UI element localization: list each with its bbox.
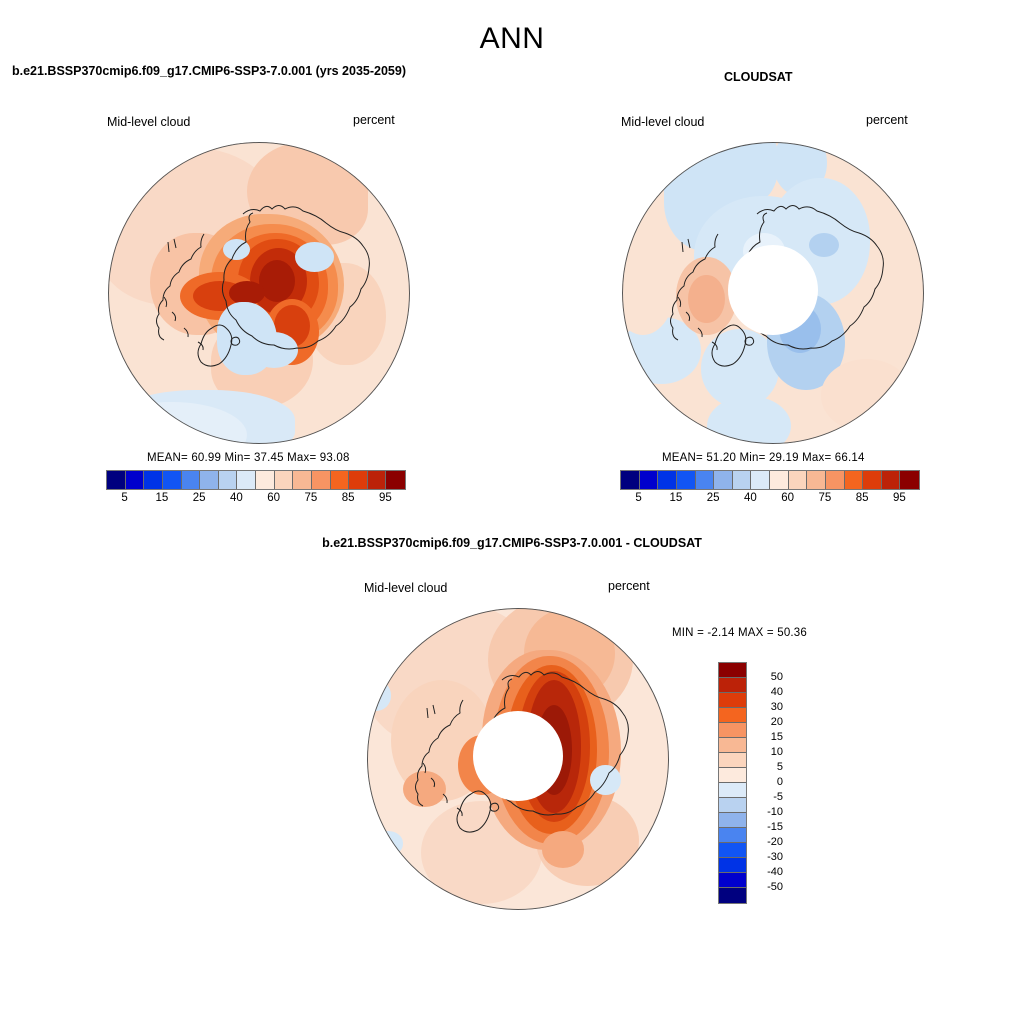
colorbar-swatch bbox=[200, 471, 219, 489]
model-units-label: percent bbox=[353, 113, 395, 127]
colorbar-tick-label: 50 bbox=[749, 671, 783, 683]
colorbar-tick-label: 0 bbox=[749, 776, 783, 788]
colorbar-tick-label: 15 bbox=[155, 492, 168, 504]
obs-stats-label: MEAN= 51.20 Min= 29.19 Max= 66.14 bbox=[662, 452, 865, 464]
colorbar-swatch bbox=[640, 471, 659, 489]
colorbar-tick-label: 10 bbox=[749, 746, 783, 758]
colorbar-tick-label: 75 bbox=[818, 492, 831, 504]
colorbar-tick-label: -50 bbox=[749, 881, 783, 893]
diff-panel-title: b.e21.BSSP370cmip6.f09_g17.CMIP6-SSP3-7.… bbox=[0, 536, 1024, 550]
colorbar-swatch bbox=[126, 471, 145, 489]
colorbar-swatch bbox=[719, 858, 746, 873]
colorbar-tick-label: 40 bbox=[749, 686, 783, 698]
colorbar-tick-label: 60 bbox=[267, 492, 280, 504]
colorbar-swatch bbox=[719, 708, 746, 723]
colorbar-swatch bbox=[719, 678, 746, 693]
colorbar-swatch bbox=[107, 471, 126, 489]
model-stats-label: MEAN= 60.99 Min= 37.45 Max= 93.08 bbox=[147, 452, 350, 464]
colorbar-swatch bbox=[719, 738, 746, 753]
obs-variable-label: Mid-level cloud bbox=[621, 115, 704, 129]
colorbar-swatch bbox=[386, 471, 405, 489]
colorbar-tick-label: 5 bbox=[121, 492, 127, 504]
colorbar-swatch bbox=[719, 828, 746, 843]
obs-units-label: percent bbox=[866, 113, 908, 127]
model-colorbar[interactable] bbox=[106, 470, 406, 490]
colorbar-swatch bbox=[368, 471, 387, 489]
colorbar-tick-label: 30 bbox=[749, 701, 783, 713]
colorbar-swatch bbox=[275, 471, 294, 489]
colorbar-swatch bbox=[312, 471, 331, 489]
diff-colorbar[interactable] bbox=[718, 662, 747, 904]
diff-units-label: percent bbox=[608, 579, 650, 593]
colorbar-tick-label: 60 bbox=[781, 492, 794, 504]
colorbar-tick-label: 25 bbox=[193, 492, 206, 504]
colorbar-swatch bbox=[714, 471, 733, 489]
colorbar-swatch bbox=[733, 471, 752, 489]
model-colorbar-ticks: 515254060758595 bbox=[106, 492, 404, 508]
colorbar-swatch bbox=[719, 723, 746, 738]
obs-colorbar-ticks: 515254060758595 bbox=[620, 492, 918, 508]
colorbar-tick-label: 95 bbox=[379, 492, 392, 504]
colorbar-tick-label: 40 bbox=[744, 492, 757, 504]
colorbar-tick-label: -30 bbox=[749, 851, 783, 863]
obs-colorbar[interactable] bbox=[620, 470, 920, 490]
colorbar-swatch bbox=[219, 471, 238, 489]
colorbar-swatch bbox=[621, 471, 640, 489]
colorbar-swatch bbox=[719, 693, 746, 708]
colorbar-tick-label: -5 bbox=[749, 791, 783, 803]
colorbar-tick-label: -20 bbox=[749, 836, 783, 848]
colorbar-tick-label: 40 bbox=[230, 492, 243, 504]
colorbar-swatch bbox=[163, 471, 182, 489]
colorbar-swatch bbox=[677, 471, 696, 489]
colorbar-tick-label: 20 bbox=[749, 716, 783, 728]
colorbar-tick-label: 15 bbox=[669, 492, 682, 504]
colorbar-swatch bbox=[719, 798, 746, 813]
colorbar-tick-label: 25 bbox=[707, 492, 720, 504]
colorbar-swatch bbox=[719, 813, 746, 828]
diff-stats-label: MIN = -2.14 MAX = 50.36 bbox=[672, 627, 807, 639]
colorbar-swatch bbox=[331, 471, 350, 489]
colorbar-swatch bbox=[349, 471, 368, 489]
colorbar-swatch bbox=[882, 471, 901, 489]
colorbar-swatch bbox=[719, 843, 746, 858]
colorbar-swatch bbox=[770, 471, 789, 489]
colorbar-swatch bbox=[789, 471, 808, 489]
colorbar-swatch bbox=[256, 471, 275, 489]
colorbar-swatch bbox=[293, 471, 312, 489]
obs-map[interactable] bbox=[622, 142, 924, 444]
model-map[interactable] bbox=[108, 142, 410, 444]
colorbar-tick-label: -10 bbox=[749, 806, 783, 818]
colorbar-tick-label: 85 bbox=[856, 492, 869, 504]
colorbar-swatch bbox=[144, 471, 163, 489]
diff-colorbar-ticks: 50403020151050-5-10-15-20-30-40-50 bbox=[749, 662, 789, 902]
colorbar-swatch bbox=[863, 471, 882, 489]
obs-panel-title: CLOUDSAT bbox=[724, 70, 793, 84]
colorbar-swatch bbox=[719, 888, 746, 903]
colorbar-swatch bbox=[845, 471, 864, 489]
model-map-ring bbox=[108, 142, 410, 444]
colorbar-swatch bbox=[719, 768, 746, 783]
colorbar-tick-label: 95 bbox=[893, 492, 906, 504]
colorbar-swatch bbox=[719, 753, 746, 768]
diff-map-ring bbox=[367, 608, 669, 910]
colorbar-swatch bbox=[182, 471, 201, 489]
colorbar-tick-label: 85 bbox=[342, 492, 355, 504]
colorbar-swatch bbox=[696, 471, 715, 489]
colorbar-tick-label: 5 bbox=[635, 492, 641, 504]
colorbar-tick-label: 75 bbox=[304, 492, 317, 504]
colorbar-swatch bbox=[658, 471, 677, 489]
colorbar-swatch bbox=[719, 783, 746, 798]
colorbar-swatch bbox=[826, 471, 845, 489]
diff-map[interactable] bbox=[367, 608, 669, 910]
colorbar-swatch bbox=[751, 471, 770, 489]
colorbar-tick-label: -15 bbox=[749, 821, 783, 833]
model-variable-label: Mid-level cloud bbox=[107, 115, 190, 129]
model-panel-title: b.e21.BSSP370cmip6.f09_g17.CMIP6-SSP3-7.… bbox=[12, 64, 406, 78]
colorbar-tick-label: 5 bbox=[749, 761, 783, 773]
colorbar-swatch bbox=[900, 471, 919, 489]
colorbar-swatch bbox=[719, 663, 746, 678]
figure-season-title: ANN bbox=[0, 22, 1024, 56]
colorbar-swatch bbox=[807, 471, 826, 489]
colorbar-swatch bbox=[719, 873, 746, 888]
colorbar-tick-label: 15 bbox=[749, 731, 783, 743]
diff-variable-label: Mid-level cloud bbox=[364, 581, 447, 595]
obs-map-ring bbox=[622, 142, 924, 444]
colorbar-swatch bbox=[237, 471, 256, 489]
colorbar-tick-label: -40 bbox=[749, 866, 783, 878]
